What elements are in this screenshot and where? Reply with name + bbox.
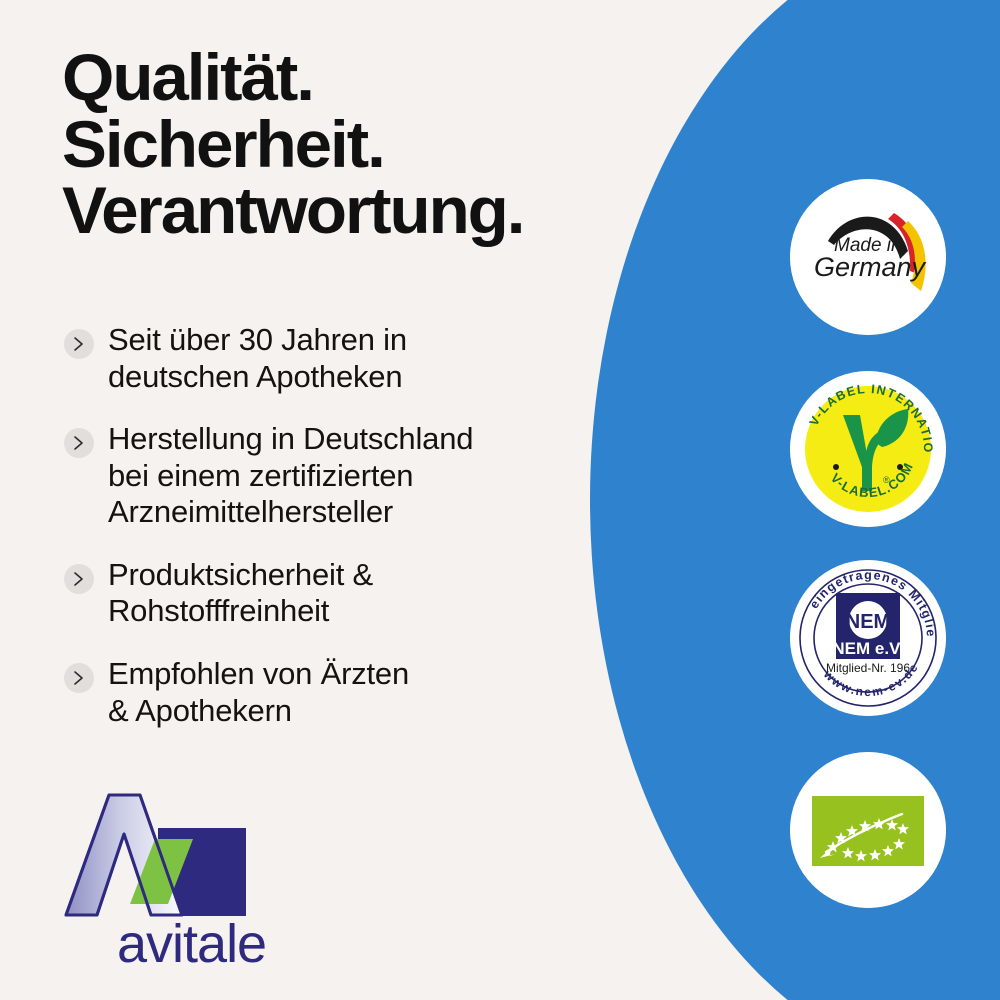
- logo-wordmark: avitale: [117, 914, 266, 967]
- chevron-right-icon: [64, 329, 94, 359]
- nem-member-number: Mitglied-Nr. 196: [826, 661, 910, 675]
- list-item-label: Empfohlen von Ärzten & Apothekern: [108, 656, 409, 729]
- chevron-right-icon: [64, 564, 94, 594]
- avitale-logo: avitale: [62, 782, 312, 967]
- nem-ev-membership-seal: NEM NEM e.V. Mitglied-Nr. 196 eingetrage…: [790, 560, 946, 716]
- blue-accent-shape-edge: [960, 0, 1000, 1000]
- nem-badge: NEM NEM e.V. Mitglied-Nr. 196 eingetrage…: [790, 560, 946, 716]
- list-item: Herstellung in Deutschland bei einem zer…: [64, 421, 664, 531]
- headline-line-1: Qualität.: [62, 44, 715, 111]
- eu-organic-euroleaf-seal: [790, 752, 946, 908]
- v-label-international-seal: V-LABEL INTERNATIONAL V-LABEL.COM ®: [790, 371, 946, 527]
- list-item-label: Seit über 30 Jahren in deutschen Apothek…: [108, 322, 407, 395]
- page-title: Qualität. Sicherheit. Verantwortung.: [62, 44, 702, 244]
- chevron-right-icon: [64, 428, 94, 458]
- made-in-germany-line2: Germany: [814, 252, 927, 282]
- made-in-germany-seal: Made in Germany: [790, 179, 946, 335]
- headline-line-2: Sicherheit.: [62, 111, 715, 178]
- chevron-right-icon: [64, 663, 94, 693]
- list-item: Produktsicherheit & Rohstofffreinheit: [64, 557, 664, 630]
- list-item-label: Herstellung in Deutschland bei einem zer…: [108, 421, 473, 531]
- list-item-label: Produktsicherheit & Rohstofffreinheit: [108, 557, 373, 630]
- headline-line-3: Verantwortung.: [62, 177, 715, 244]
- v-label-badge: V-LABEL INTERNATIONAL V-LABEL.COM ®: [790, 371, 946, 527]
- eu-organic-badge: [790, 752, 946, 908]
- registered-mark-icon: ®: [883, 475, 890, 485]
- nem-org-label: NEM e.V.: [832, 639, 903, 658]
- list-item: Seit über 30 Jahren in deutschen Apothek…: [64, 322, 664, 395]
- made-in-germany-badge: Made in Germany: [790, 179, 946, 335]
- poster-root: Qualität. Sicherheit. Verantwortung. Sei…: [0, 0, 1000, 1000]
- list-item: Empfohlen von Ärzten & Apothekern: [64, 656, 664, 729]
- feature-list: Seit über 30 Jahren in deutschen Apothek…: [64, 322, 664, 729]
- nem-mark-label: NEM: [846, 611, 890, 633]
